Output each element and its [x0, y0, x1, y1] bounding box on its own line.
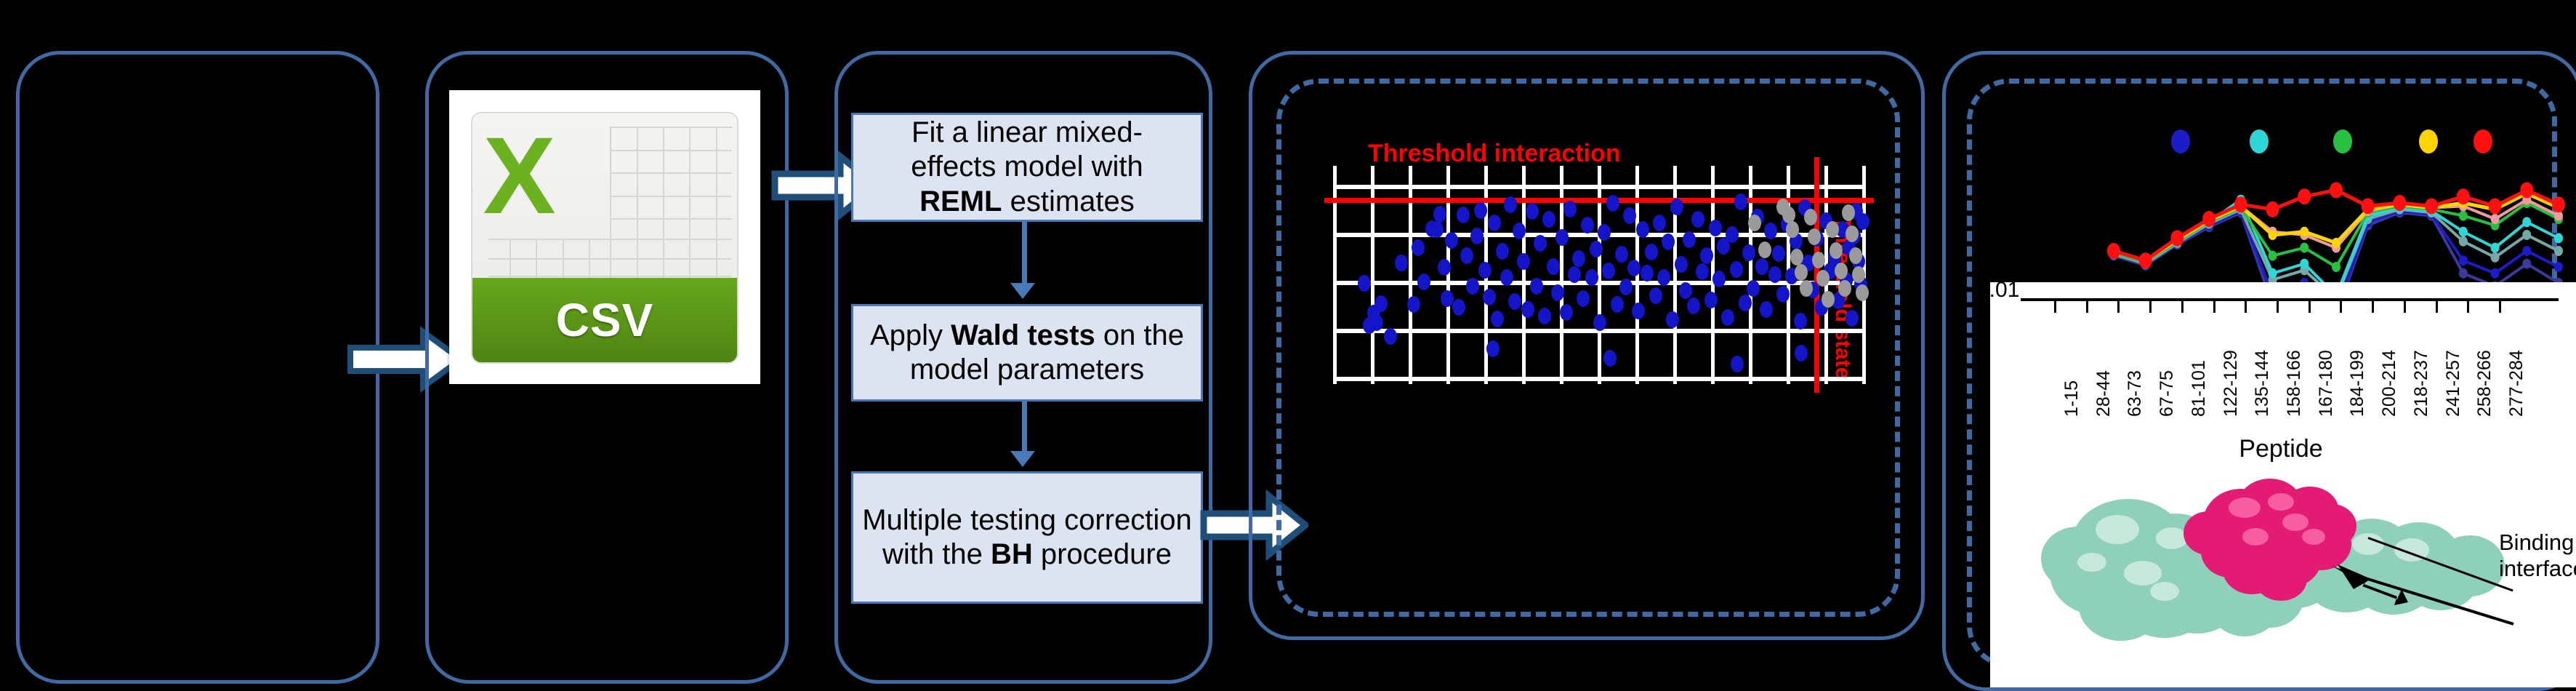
peptide-marker [2393, 195, 2406, 211]
volcano-point-blue [1683, 231, 1696, 248]
volcano-point-blue [1611, 296, 1624, 313]
protein-surface-blob [2268, 493, 2294, 511]
connector-wald-to-bh [1022, 402, 1027, 451]
volcano-point-grey [1790, 249, 1803, 265]
volcano-point-blue [1547, 258, 1560, 275]
volcano-point-blue [1636, 221, 1649, 238]
step-reml-bold: REML [919, 185, 1002, 217]
volcano-point-blue [1704, 292, 1718, 308]
volcano-point-grey [1856, 284, 1869, 301]
volcano-point-blue [1772, 245, 1785, 262]
volcano-point-blue [1731, 356, 1744, 372]
protein-surface-blob [2156, 527, 2188, 549]
volcano-point-grey [1758, 241, 1771, 258]
volcano-point-grey [1804, 209, 1817, 225]
volcano-point-blue [1526, 203, 1539, 220]
peptide-marker [2300, 243, 2309, 253]
peptide-marker [2269, 251, 2277, 261]
x-axis-tick-label: 277-284 [2506, 350, 2527, 417]
volcano-point-blue [1615, 246, 1628, 263]
volcano-point-blue [1577, 290, 1590, 307]
volcano-point-blue [1478, 262, 1492, 279]
peptide-marker [2459, 227, 2468, 237]
volcano-point-blue [1603, 350, 1617, 367]
volcano-chart: Threshold interaction Threshold state [1276, 79, 1900, 617]
volcano-point-grey [1816, 270, 1830, 287]
volcano-point-blue [1470, 228, 1484, 244]
volcano-point-blue [1395, 255, 1408, 271]
volcano-point-grey [1795, 264, 1808, 281]
volcano-point-grey [1830, 242, 1843, 259]
volcano-points-layer [1333, 166, 1865, 384]
protein-surface-blob [2255, 557, 2307, 601]
protein-surface-blob [2229, 498, 2261, 518]
volcano-point-blue [1581, 217, 1594, 233]
peptide-marker [2269, 268, 2277, 279]
peptide-marker [2107, 243, 2120, 259]
x-axis-tick-label: 158-166 [2284, 350, 2305, 417]
volcano-point-grey [1748, 215, 1761, 231]
volcano-point-blue [1760, 301, 1773, 318]
peptide-marker [2202, 211, 2215, 227]
volcano-point-blue [1645, 244, 1658, 260]
x-axis-tick-label: 135-144 [2252, 350, 2273, 417]
volcano-point-blue [1653, 215, 1666, 231]
volcano-point-blue [1641, 265, 1654, 281]
volcano-point-blue [1730, 261, 1743, 278]
peptide-marker [2554, 262, 2563, 272]
volcano-point-blue [1666, 311, 1679, 328]
volcano-point-grey [1852, 266, 1865, 283]
volcano-point-blue [1691, 211, 1704, 228]
volcano-point-blue [1776, 286, 1790, 303]
volcano-point-blue [1768, 266, 1782, 283]
volcano-point-blue [1742, 244, 1755, 261]
volcano-point-blue [1590, 241, 1603, 257]
protein-surface-blob [2150, 582, 2179, 601]
volcano-point-blue [1794, 313, 1807, 329]
binding-interface-label: Binding interface [2499, 530, 2576, 581]
connector-arrowhead-1 [1010, 283, 1035, 299]
step-bh-post: procedure [1033, 538, 1172, 570]
volcano-point-blue [1466, 278, 1479, 295]
peptide-marker [2459, 236, 2468, 247]
volcano-point-blue [1619, 279, 1633, 295]
protein-surface-blob [2183, 511, 2233, 555]
step-bh-box[interactable]: Multiple testing correction with the BH … [851, 471, 1203, 604]
volcano-point-blue [1795, 345, 1808, 362]
protein-surface-blob [2096, 515, 2139, 544]
volcano-point-grey [1835, 263, 1848, 279]
step-bh-line2-pre: with the [882, 538, 991, 570]
step-bh-bold: BH [991, 538, 1033, 570]
volcano-point-blue [1483, 289, 1496, 305]
volcano-point-blue [1496, 243, 1509, 260]
peptide-axis-and-structure-card: 0.01 1-1528-4463-7367-7581-101122-129135… [1990, 282, 2576, 687]
x-axis-tick-label: 218-237 [2411, 350, 2432, 417]
volcano-point-blue [1407, 296, 1420, 313]
figure-canvas: X CSV Fit a linear mixed- effects model … [0, 0, 2576, 687]
peptide-marker [2457, 188, 2470, 204]
volcano-point-blue [1555, 229, 1569, 246]
x-axis-tick-label: 67-75 [2157, 370, 2178, 417]
volcano-point-blue [1687, 297, 1700, 314]
volcano-point-blue [1679, 282, 1692, 299]
volcano-point-blue [1856, 213, 1869, 230]
volcano-grid [1333, 166, 1865, 384]
volcano-point-blue [1474, 202, 1487, 219]
x-axis-tick-label: 81-101 [2189, 360, 2210, 417]
volcano-point-blue [1521, 301, 1534, 318]
volcano-point-blue [1534, 235, 1547, 252]
volcano-point-grey [1822, 291, 1835, 308]
volcano-point-blue [1491, 311, 1504, 327]
peptide-marker [2332, 262, 2340, 272]
protein-surface-blob [2077, 553, 2106, 572]
peptide-marker [2554, 233, 2563, 243]
volcano-point-blue [1700, 247, 1713, 264]
connector-reml-to-wald [1022, 222, 1027, 283]
volcano-point-blue [1585, 269, 1598, 286]
csv-file-icon[interactable]: X CSV [449, 90, 760, 384]
peptide-marker [2491, 268, 2500, 279]
volcano-point-blue [1709, 220, 1722, 236]
peptide-marker [2491, 214, 2500, 224]
volcano-point-blue [1417, 273, 1430, 290]
step-reml-box[interactable]: Fit a linear mixed- effects model with R… [851, 113, 1203, 222]
volcano-point-blue [1538, 308, 1551, 324]
volcano-point-grey [1826, 221, 1839, 238]
protein-surface-blob [2242, 528, 2269, 546]
volcano-point-grey [1838, 280, 1851, 297]
binding-interface-line1: Binding [2499, 530, 2576, 556]
volcano-point-blue [1568, 266, 1581, 283]
volcano-point-blue [1755, 258, 1768, 275]
peptide-marker [2489, 198, 2502, 214]
volcano-point-blue [1457, 207, 1470, 223]
volcano-point-blue [1739, 295, 1752, 311]
step-wald-box[interactable]: Apply Wald tests on the model parameters [851, 304, 1203, 402]
peptide-marker [2298, 188, 2311, 204]
peptide-marker [2362, 198, 2375, 214]
empty-input-panel [16, 51, 379, 684]
csv-icon-tile: X CSV [471, 112, 738, 364]
csv-band: CSV [472, 278, 737, 362]
volcano-point-blue [1747, 280, 1760, 297]
x-axis-tick-label: 167-180 [2316, 350, 2337, 417]
step-wald-bold: Wald tests [951, 319, 1095, 351]
volcano-point-blue [1358, 275, 1371, 292]
volcano-point-blue [1606, 195, 1619, 212]
x-axis-tick-label: 28-44 [2093, 370, 2114, 417]
volcano-point-grey [1812, 252, 1825, 268]
volcano-point-blue [1500, 269, 1513, 286]
peptide-marker [2425, 198, 2438, 214]
volcano-point-blue [1657, 269, 1670, 286]
volcano-point-blue [1846, 310, 1859, 327]
volcano-point-blue [1551, 284, 1564, 301]
x-axis-tick-label: 184-199 [2347, 350, 2368, 417]
volcano-point-blue [1572, 250, 1585, 267]
volcano-point-blue [1632, 303, 1645, 319]
volcano-point-blue [1438, 259, 1451, 276]
peptide-marker [2522, 217, 2531, 227]
volcano-point-blue [1430, 221, 1444, 238]
peptide-marker [2491, 243, 2500, 253]
peptide-marker [2522, 246, 2531, 256]
volcano-point-grey [1849, 247, 1862, 264]
volcano-point-blue [1452, 299, 1465, 316]
volcano-point-blue [1560, 304, 1573, 321]
volcano-point-blue [1764, 223, 1777, 239]
step-bh-line1: Multiple testing correction [862, 504, 1192, 536]
peptide-marker [2552, 196, 2565, 212]
csv-label: CSV [556, 293, 654, 347]
binding-interface-line2: interface [2499, 556, 2576, 582]
volcano-point-blue [1517, 253, 1530, 270]
volcano-point-blue [1384, 328, 1397, 345]
step-reml-line2-pre: effects model with [911, 151, 1143, 183]
volcano-point-blue [1486, 340, 1500, 357]
x-axis-tick-label: 122-129 [2221, 350, 2242, 417]
step-reml-line1: Fit a linear mixed- [911, 116, 1143, 148]
protein-surface-blob [2282, 514, 2309, 531]
volcano-point-blue [1508, 293, 1521, 310]
volcano-point-blue [1488, 215, 1501, 231]
volcano-point-blue [1433, 206, 1446, 223]
step-wald-pre: Apply [870, 319, 951, 351]
peptide-marker [2139, 252, 2152, 268]
x-axis-tick-label: 258-266 [2474, 350, 2495, 417]
volcano-point-blue [1445, 232, 1458, 249]
x-axis-tick-label: 1-15 [2061, 380, 2082, 417]
peptide-marker [2522, 259, 2531, 269]
volcano-point-blue [1412, 239, 1425, 256]
peptide-marker [2332, 238, 2340, 248]
peptide-marker [2459, 268, 2468, 279]
volcano-point-blue [1670, 199, 1683, 215]
peptide-marker [2170, 230, 2183, 246]
peptide-marker [2522, 230, 2531, 240]
volcano-point-blue [1530, 278, 1543, 295]
volcano-point-blue [1623, 207, 1636, 224]
peptide-marker [2234, 196, 2247, 212]
peptide-marker [2459, 255, 2468, 265]
volcano-point-blue [1662, 233, 1675, 250]
volcano-point-blue [1460, 247, 1473, 264]
volcano-point-blue [1721, 309, 1734, 326]
threshold-interaction-label: Threshold interaction [1368, 140, 1621, 168]
volcano-point-blue [1593, 314, 1606, 331]
peptide-marker [2269, 230, 2277, 240]
volcano-point-blue [1598, 224, 1611, 241]
volcano-point-grey [1782, 207, 1795, 223]
volcano-point-grey [1800, 280, 1813, 297]
volcano-point-blue [1374, 295, 1388, 312]
volcano-point-blue [1602, 263, 1615, 279]
volcano-point-blue [1726, 226, 1739, 243]
peptide-marker [2520, 182, 2533, 198]
volcano-point-blue [1513, 223, 1526, 239]
peptide-marker [2459, 211, 2468, 221]
volcano-point-blue [1649, 287, 1662, 304]
protein-surface-model [1990, 457, 2576, 687]
x-axis-tick-label: 200-214 [2379, 350, 2400, 417]
volcano-point-blue [1675, 256, 1688, 273]
protein-surface-blob [2302, 529, 2325, 545]
volcano-point-blue [1627, 260, 1641, 276]
volcano-point-blue [1504, 196, 1517, 213]
peptide-marker [2300, 259, 2309, 269]
peptide-marker [2300, 227, 2309, 237]
volcano-point-blue [1712, 271, 1726, 287]
volcano-point-grey [1842, 204, 1855, 221]
volcano-point-blue [1734, 193, 1747, 210]
excel-x-glyph: X [483, 121, 589, 255]
x-axis-tick-label: 241-257 [2443, 350, 2464, 417]
protein-surface-blob [2124, 561, 2162, 586]
peptide-marker [2266, 201, 2279, 217]
peptide-marker [2491, 252, 2500, 263]
step-reml-post: estimates [1002, 185, 1135, 217]
volcano-point-blue [1563, 201, 1577, 217]
volcano-point-blue [1542, 211, 1555, 228]
connector-arrowhead-2 [1010, 451, 1035, 467]
x-axis-tick-label: 63-73 [2125, 370, 2146, 417]
volcano-point-blue [1696, 263, 1709, 280]
peptide-marker [2554, 246, 2563, 256]
volcano-point-blue [1370, 314, 1383, 331]
peptide-marker [2330, 182, 2343, 198]
